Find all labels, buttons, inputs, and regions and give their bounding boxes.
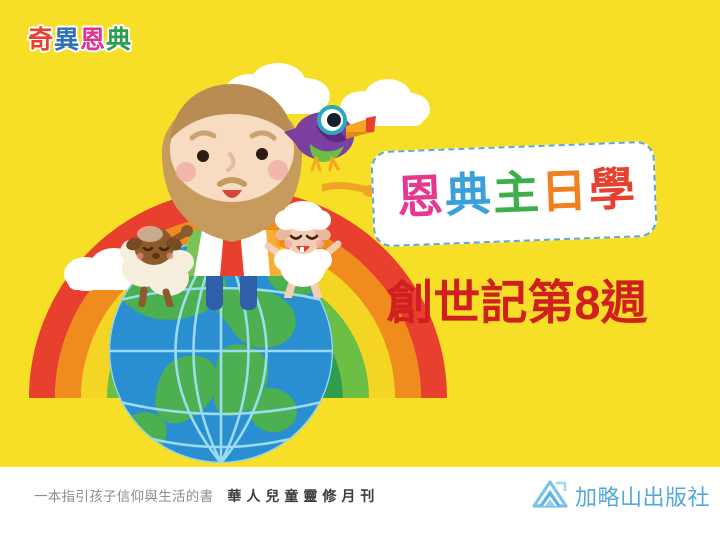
white-sheep-illustration bbox=[262, 198, 344, 298]
title-text: 恩 典 主 日 學 bbox=[396, 165, 636, 220]
title-char-2: 典 bbox=[444, 171, 492, 219]
brand-char-1: 奇 bbox=[28, 28, 53, 53]
tagline-group: 一本指引孩子信仰與生活的書 華人兒童靈修月刊 bbox=[34, 485, 379, 506]
subtitle-lesson: 創世記第8週 bbox=[372, 278, 662, 327]
brand-logo: 奇 異 恩 典 bbox=[28, 28, 131, 53]
footer-bar: 一本指引孩子信仰與生活的書 華人兒童靈修月刊 加略山出版社 bbox=[0, 467, 720, 540]
publisher-logo: 加略山出版社 bbox=[532, 479, 710, 513]
publisher-name: 加略山出版社 bbox=[575, 480, 710, 512]
brown-lamb-illustration bbox=[118, 212, 210, 307]
title-char-3: 主 bbox=[492, 169, 540, 217]
brand-char-2: 異 bbox=[54, 28, 79, 53]
brand-char-3: 恩 bbox=[80, 28, 105, 53]
title-char-1: 恩 bbox=[396, 173, 444, 221]
cover-stage: 恩 典 主 日 學 創世記第8週 奇 異 恩 典 bbox=[0, 0, 720, 467]
tagline-publication-type: 華人兒童靈修月刊 bbox=[227, 486, 379, 506]
tagline-description: 一本指引孩子信仰與生活的書 bbox=[34, 485, 213, 505]
poster-cover: 恩 典 主 日 學 創世記第8週 奇 異 恩 典 一本指引孩子信仰與生活的書 華… bbox=[0, 0, 720, 540]
title-char-4: 日 bbox=[540, 167, 588, 215]
title-char-5: 學 bbox=[588, 165, 636, 213]
brand-char-4: 典 bbox=[106, 28, 131, 53]
title-tag: 恩 典 主 日 學 bbox=[370, 141, 657, 248]
toucan-bird-illustration bbox=[276, 92, 376, 177]
mountain-icon bbox=[532, 479, 568, 513]
